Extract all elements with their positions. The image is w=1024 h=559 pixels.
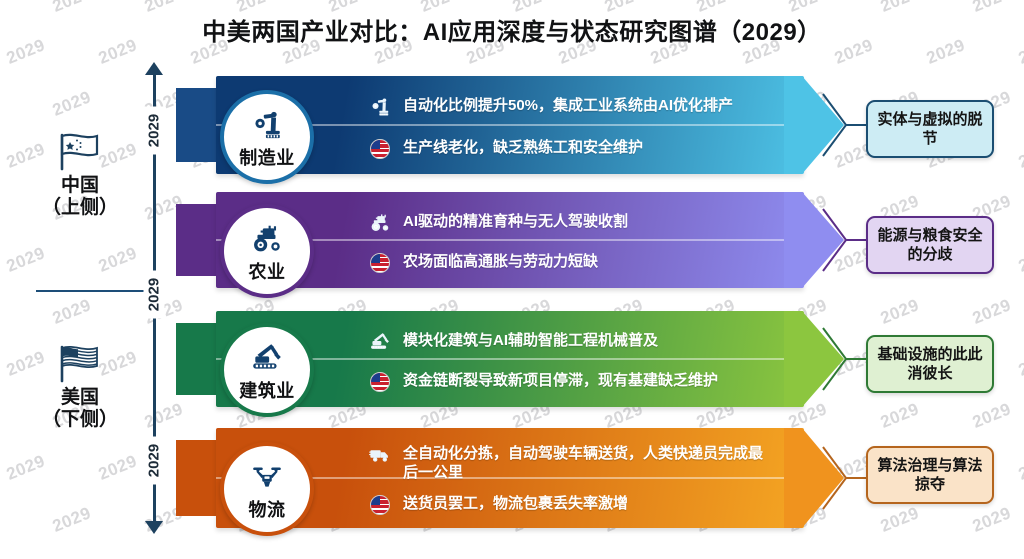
watermark-text: 2029: [832, 555, 876, 559]
watermark-text: 2029: [970, 399, 1014, 432]
row-usa-text: 生产线老化，缺乏熟练工和安全维护: [403, 138, 643, 158]
watermark-text: 2029: [50, 295, 94, 328]
page-title: 中美两国产业对比：AI应用深度与状态研究图谱（2029）: [0, 12, 1024, 47]
usa-flag-round-icon: [366, 371, 394, 392]
row-icon-circle-agriculture[interactable]: 农业: [220, 204, 314, 298]
tractor-icon: [366, 212, 394, 233]
axis-tick: 2029: [144, 271, 165, 319]
watermark-text: 2029: [878, 295, 922, 328]
row-usa-line: 生产线老化，缺乏熟练工和安全维护: [366, 138, 796, 159]
infographic-canvas: 2029202920292029202920292029202920292029…: [0, 0, 1024, 559]
watermark-text: 2029: [878, 399, 922, 432]
watermark-text: 2029: [0, 295, 2, 328]
watermark-text: 2029: [280, 555, 324, 559]
crane-icon: [366, 331, 394, 352]
row-label: 制造业: [239, 144, 295, 170]
watermark-text: 2029: [0, 87, 2, 120]
row-connector-logistics: [822, 442, 870, 514]
industry-row-logistics[interactable]: 物流 全自动化分拣，自动驾驶车辆送货，人类快递员完成最后一公里 送货员罢工，物流…: [176, 428, 824, 528]
industry-row-construction[interactable]: 建筑业 模块化建筑与AI辅助智能工程机械普及: [176, 311, 824, 407]
callout-text: 算法治理与算法掠夺: [874, 456, 986, 495]
watermark-text: 2029: [970, 295, 1014, 328]
usa-flag-round-icon: [366, 252, 394, 273]
robot-arm-icon: [366, 96, 394, 117]
callout-text: 能源与粮食安全的分歧: [874, 226, 986, 265]
watermark-text: 2029: [1016, 555, 1024, 559]
watermark-text: 2029: [970, 503, 1014, 536]
callout-text: 实体与虚拟的脱节: [874, 110, 986, 149]
row-china-line: AI驱动的精准育种与无人驾驶收割: [366, 212, 774, 233]
axis-tick: 2029: [144, 437, 165, 485]
watermark-text: 2029: [740, 555, 784, 559]
year-axis: 2029 2029 2029: [134, 62, 174, 534]
drone-icon: [250, 456, 284, 494]
row-china-line: 全自动化分拣，自动驾驶车辆送货，人类快递员完成最后一公里: [366, 444, 774, 483]
row-icon-circle-logistics[interactable]: 物流: [220, 442, 314, 536]
watermark-text: 2029: [50, 503, 94, 536]
excavator-icon: [250, 337, 284, 375]
watermark-text: 2029: [4, 555, 48, 559]
row-china-text: AI驱动的精准育种与无人驾驶收割: [403, 212, 628, 232]
row-connector-construction: [822, 323, 870, 395]
row-usa-line: 送货员罢工，物流包裹丢失率激增: [366, 494, 796, 515]
row-china-text: 模块化建筑与AI辅助智能工程机械普及: [403, 331, 658, 351]
callout-text: 基础设施的此此消彼长: [874, 345, 986, 384]
row-label: 农业: [249, 258, 286, 284]
watermark-text: 2029: [1016, 451, 1024, 484]
usa-flag-round-icon: [366, 494, 394, 515]
row-icon-circle-manufacturing[interactable]: 制造业: [220, 90, 314, 184]
watermark-text: 2029: [464, 555, 508, 559]
row-china-line: 模块化建筑与AI辅助智能工程机械普及: [366, 331, 774, 352]
row-usa-text: 资金链断裂导致新项目停滞，现有基建缺乏维护: [403, 371, 718, 391]
watermark-text: 2029: [648, 555, 692, 559]
row-china-text: 自动化比例提升50%，集成工业系统由AI优化排产: [403, 96, 733, 116]
callout-manufacturing[interactable]: 实体与虚拟的脱节: [866, 100, 994, 158]
robot-arm-icon: [250, 104, 284, 142]
row-usa-text: 送货员罢工，物流包裹丢失率激增: [403, 494, 628, 514]
watermark-text: 2029: [50, 87, 94, 120]
watermark-text: 2029: [1016, 139, 1024, 172]
axis-tick: 2029: [144, 107, 165, 155]
row-connector-agriculture: [822, 204, 870, 276]
callout-logistics[interactable]: 算法治理与算法掠夺: [866, 446, 994, 504]
callout-agriculture[interactable]: 能源与粮食安全的分歧: [866, 216, 994, 274]
tractor-icon: [250, 218, 284, 256]
row-usa-text: 农场面临高通胀与劳动力短缺: [403, 252, 598, 272]
watermark-text: 2029: [556, 555, 600, 559]
row-connector-manufacturing: [822, 89, 870, 161]
watermark-text: 2029: [1016, 347, 1024, 380]
watermark-text: 2029: [4, 243, 48, 276]
row-label: 建筑业: [239, 377, 295, 403]
row-china-text: 全自动化分拣，自动驾驶车辆送货，人类快递员完成最后一公里: [403, 444, 774, 483]
watermark-text: 2029: [96, 555, 140, 559]
watermark-text: 2029: [372, 555, 416, 559]
watermark-text: 2029: [924, 555, 968, 559]
industry-row-manufacturing[interactable]: 制造业 自动化比例提升50%，集成工业系统由AI优化排产: [176, 76, 824, 174]
row-icon-circle-construction[interactable]: 建筑业: [220, 323, 314, 417]
row-usa-line: 农场面临高通胀与劳动力短缺: [366, 252, 796, 273]
row-china-line: 自动化比例提升50%，集成工业系统由AI优化排产: [366, 96, 774, 117]
watermark-text: 2029: [0, 503, 2, 536]
watermark-text: 2029: [1016, 243, 1024, 276]
legend-divider: [36, 290, 148, 292]
industry-row-agriculture[interactable]: 农业 AI驱动的精准育种与无人驾驶收割 农场面临高通胀与劳动力短缺: [176, 192, 824, 288]
watermark-text: 2029: [188, 555, 232, 559]
arrow-down-icon: [145, 521, 163, 534]
callout-construction[interactable]: 基础设施的此此消彼长: [866, 335, 994, 393]
row-usa-line: 资金链断裂导致新项目停滞，现有基建缺乏维护: [366, 371, 796, 392]
watermark-text: 2029: [878, 503, 922, 536]
watermark-text: 2029: [4, 451, 48, 484]
usa-flag-round-icon: [366, 138, 394, 159]
row-label: 物流: [249, 496, 286, 522]
delivery-truck-icon: [366, 444, 394, 465]
